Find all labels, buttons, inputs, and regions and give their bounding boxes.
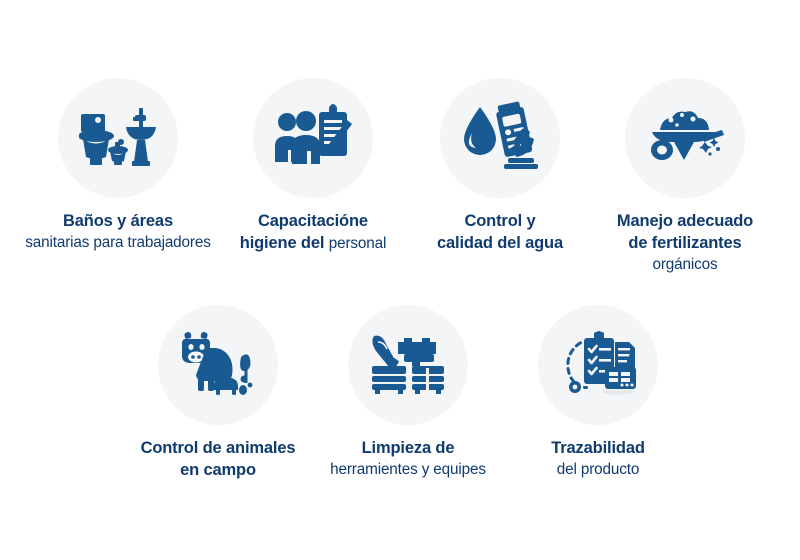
item-caption: Capacitacióne higiene del personal (240, 211, 386, 255)
toilet-sink-icon (79, 102, 157, 174)
cow-calf-icon (178, 331, 258, 399)
caption-line-2-regular: personal (329, 235, 386, 252)
infographic-board: Baños y áreas sanitarias para trabajador… (0, 0, 800, 560)
caption-line-2: calidad del agua (437, 233, 563, 255)
caption-line-2: higiene del personal (240, 233, 386, 255)
water-drop-microscope-icon (460, 101, 540, 175)
caption-line-2: del producto (551, 460, 645, 480)
icon-badge (440, 78, 560, 198)
infographic-item-agua[interactable]: Control y calidad del agua (405, 78, 595, 255)
people-clipboard-pencil-icon (273, 102, 353, 174)
infographic-item-capacitacion[interactable]: Capacitacióne higiene del personal (218, 78, 408, 255)
caption-line-1: Control y (437, 211, 563, 233)
icon-badge (348, 305, 468, 425)
caption-line-1: Baños y áreas (25, 211, 210, 233)
wheelbarrow-compost-icon (644, 106, 726, 170)
infographic-item-fertilizantes[interactable]: Manejo adecuado de fertilizantes orgánic… (590, 78, 780, 275)
caption-line-3: orgánicos (617, 255, 753, 275)
caption-line-1: Trazabilidad (551, 438, 645, 460)
icon-badge (538, 305, 658, 425)
item-caption: Trazabilidad del producto (551, 438, 645, 480)
clipboard-checklist-card-icon (558, 330, 638, 400)
icon-badge (58, 78, 178, 198)
caption-line-1: Capacitacióne (240, 211, 386, 233)
infographic-item-banos[interactable]: Baños y áreas sanitarias para trabajador… (23, 78, 213, 253)
knife-tools-icon (368, 332, 448, 398)
infographic-item-animales[interactable]: Control de animales en campo (123, 305, 313, 482)
item-caption: Baños y áreas sanitarias para trabajador… (25, 211, 210, 253)
icon-badge (625, 78, 745, 198)
caption-line-1: Control de animales (141, 438, 296, 460)
item-caption: Control y calidad del agua (437, 211, 563, 255)
caption-line-2: en campo (141, 460, 296, 482)
icon-badge (253, 78, 373, 198)
caption-line-2: sanitarias para trabajadores (25, 233, 210, 253)
caption-line-2-bold: higiene del (240, 234, 329, 252)
item-caption: Limpieza de herramientes y equipes (330, 438, 486, 480)
caption-line-1: Limpieza de (330, 438, 486, 460)
infographic-item-limpieza[interactable]: Limpieza de herramientes y equipes (313, 305, 503, 480)
icon-badge (158, 305, 278, 425)
caption-line-1: Manejo adecuado (617, 211, 753, 233)
infographic-item-trazabilidad[interactable]: Trazabilidad del producto (503, 305, 693, 480)
item-caption: Control de animales en campo (141, 438, 296, 482)
item-caption: Manejo adecuado de fertilizantes orgánic… (617, 211, 753, 275)
caption-line-2: herramientes y equipes (330, 460, 486, 480)
caption-line-2: de fertilizantes (617, 233, 753, 255)
